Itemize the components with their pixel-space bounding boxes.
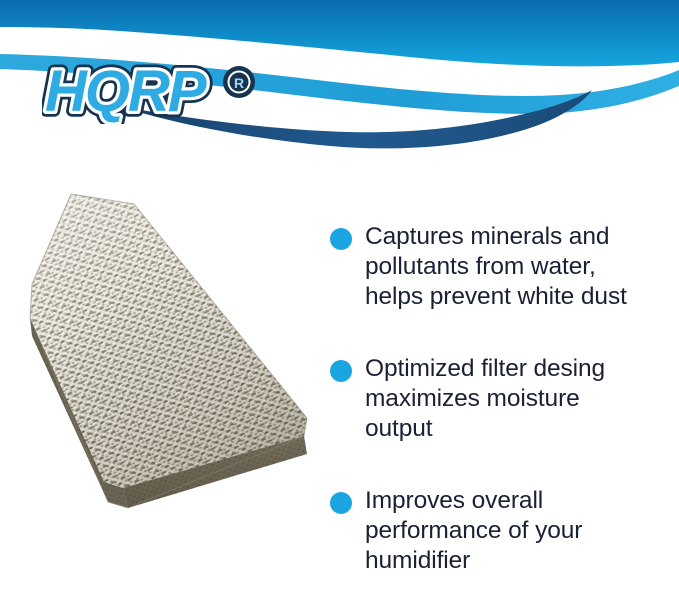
svg-text:R: R [234,75,244,91]
brand-logo-fill: HQRP [45,59,207,124]
header-band-shape [0,0,679,66]
registered-trademark-icon: R [223,66,255,98]
product-feature-card: HQRP HQRP HQRP R [0,0,679,593]
feature-text: Improves overall performance of your hum… [365,486,676,576]
list-item: Optimized filter desing maximizes moistu… [330,354,676,444]
bullet-dot-icon [330,492,352,514]
feature-text: Optimized filter desing maximizes moistu… [365,354,676,444]
feature-list: Captures minerals and pollutants from wa… [330,222,676,576]
bullet-dot-icon [330,228,352,250]
list-item: Improves overall performance of your hum… [330,486,676,576]
feature-text: Captures minerals and pollutants from wa… [365,222,676,312]
product-image [8,186,324,534]
list-item: Captures minerals and pollutants from wa… [330,222,676,312]
brand-logo: HQRP HQRP HQRP R [42,58,272,124]
bullet-dot-icon [330,360,352,382]
